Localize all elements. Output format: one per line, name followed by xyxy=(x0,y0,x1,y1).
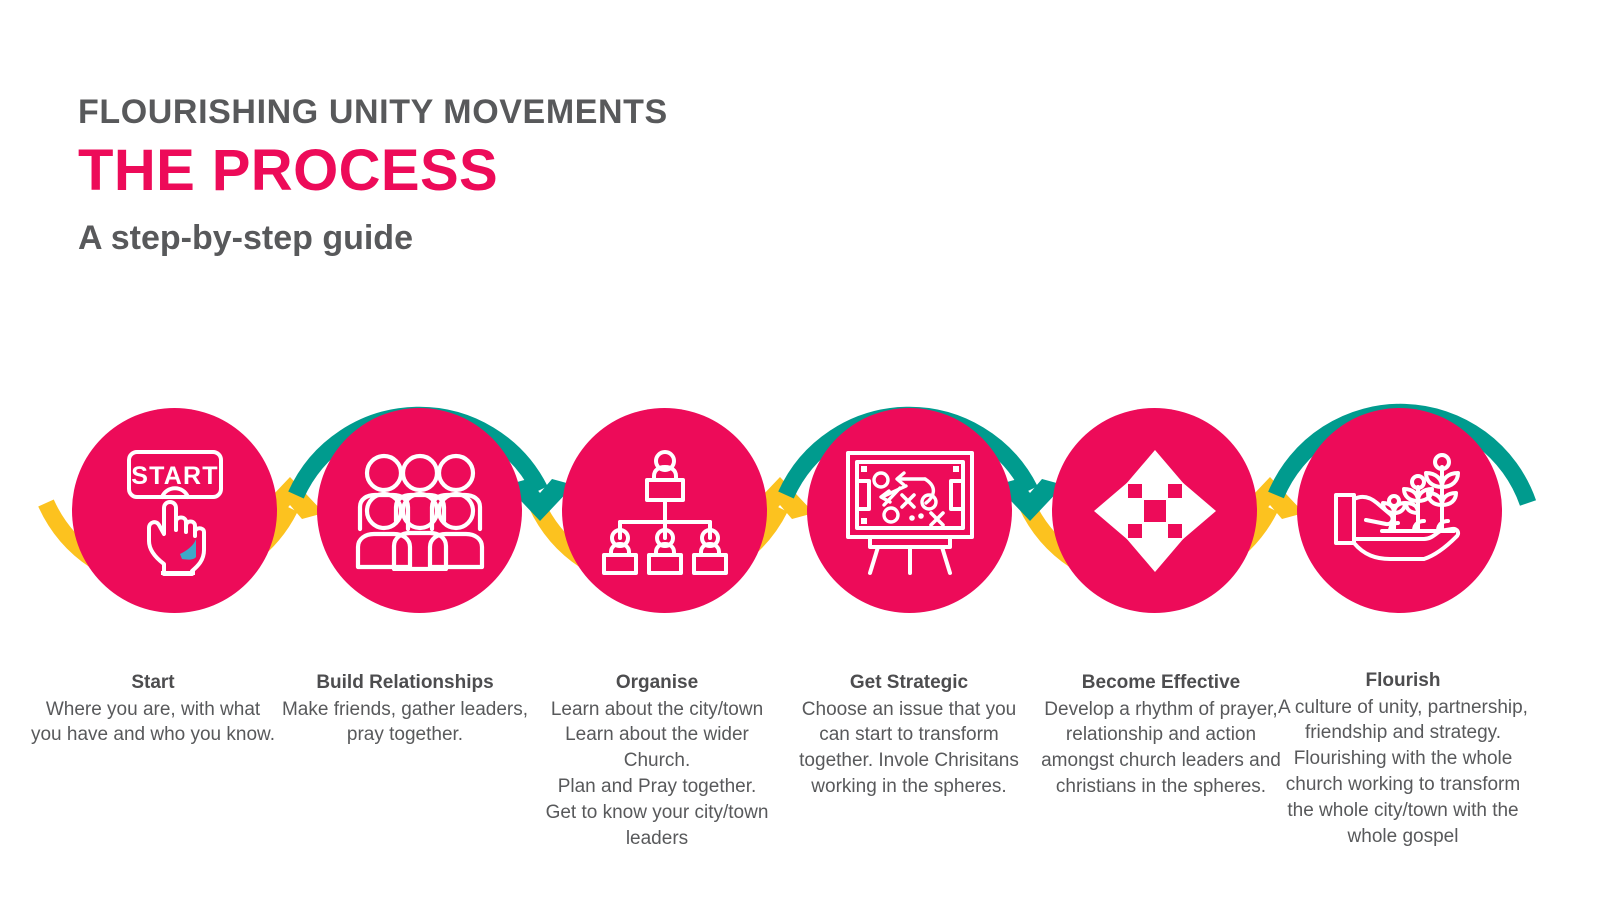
caption-step-1: Start Where you are, with what you have … xyxy=(28,670,278,748)
header: FLOURISHING UNITY MOVEMENTS THE PROCESS … xyxy=(78,92,978,259)
caption-title: Become Effective xyxy=(1036,670,1286,696)
caption-step-4: Get Strategic Choose an issue that you c… xyxy=(784,670,1034,800)
step-circle-1[interactable]: START xyxy=(72,408,277,613)
caption-body: Choose an issue that you can start to tr… xyxy=(784,697,1034,800)
caption-title: Start xyxy=(28,670,278,696)
infographic-page: FLOURISHING UNITY MOVEMENTS THE PROCESS … xyxy=(0,0,1600,900)
caption-title: Organise xyxy=(532,670,782,696)
step-circle-6[interactable] xyxy=(1297,408,1502,613)
caption-body: Develop a rhythm of prayer, relationship… xyxy=(1036,697,1286,800)
hand-holding-plants-icon xyxy=(1332,451,1468,571)
caption-step-2: Build Relationships Make friends, gather… xyxy=(280,670,530,748)
caption-step-6: Flourish A culture of unity, partnership… xyxy=(1278,668,1528,850)
header-kicker: FLOURISHING UNITY MOVEMENTS xyxy=(78,92,978,132)
four-direction-arrows-icon xyxy=(1092,448,1218,574)
step-circle-4[interactable] xyxy=(807,408,1012,613)
step-circle-3[interactable] xyxy=(562,408,767,613)
organisation-chart-icon xyxy=(600,446,730,576)
process-diagram: START xyxy=(0,355,1600,675)
caption-title: Build Relationships xyxy=(280,670,530,696)
group-of-people-icon xyxy=(350,451,490,571)
caption-title: Get Strategic xyxy=(784,670,1034,696)
caption-body: A culture of unity, partnership, friends… xyxy=(1278,695,1528,850)
caption-title: Flourish xyxy=(1278,668,1528,694)
step-captions: Start Where you are, with what you have … xyxy=(0,660,1600,900)
caption-step-5: Become Effective Develop a rhythm of pra… xyxy=(1036,670,1286,800)
strategy-board-icon xyxy=(844,445,976,577)
caption-body: Make friends, gather leaders, pray toget… xyxy=(280,697,530,749)
step-circle-2[interactable] xyxy=(317,408,522,613)
caption-body: Learn about the city/town Learn about th… xyxy=(532,697,782,852)
caption-step-3: Organise Learn about the city/town Learn… xyxy=(532,670,782,852)
start-button-hand-icon: START xyxy=(116,446,234,576)
svg-text:START: START xyxy=(131,462,218,490)
page-title: THE PROCESS xyxy=(78,138,978,204)
caption-body: Where you are, with what you have and wh… xyxy=(28,697,278,749)
header-subtitle: A step-by-step guide xyxy=(78,218,978,259)
step-circle-5[interactable] xyxy=(1052,408,1257,613)
